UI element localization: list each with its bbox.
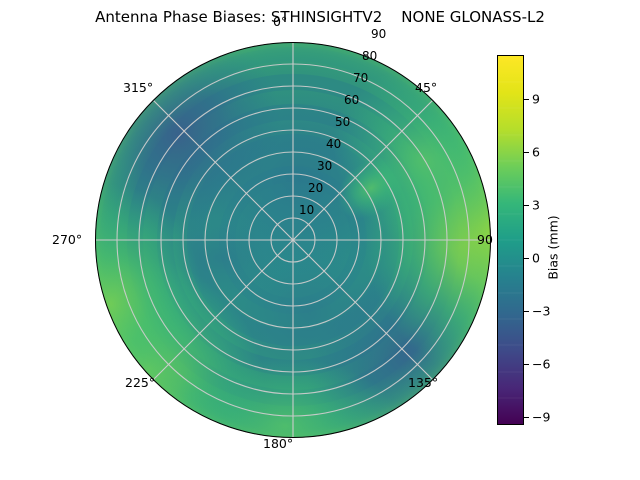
colorbar-tick-mark-3 [524,205,529,206]
radial-tick-10: 10 [299,203,314,217]
colorbar-tick-label-neg3: −3 [532,304,550,319]
radial-tick-70: 70 [353,71,368,85]
colorbar-gradient [497,55,524,425]
angular-tick-0: 0° [273,14,287,29]
colorbar-tick-label-9: 9 [532,92,540,107]
angular-tick-90: 90 [477,232,493,247]
colorbar-axis-label: Bias (mm) [546,215,561,279]
radial-tick-60: 60 [344,93,359,107]
radial-tick-40: 40 [326,137,341,151]
colorbar-tick-mark-neg9 [524,417,529,418]
colorbar-gradient-svg [498,56,523,424]
radial-tick-30: 30 [317,159,332,173]
colorbar-tick-mark-6 [524,152,529,153]
page-title: Antenna Phase Biases: STHINSIGHTV2 NONE … [0,8,640,26]
radial-tick-20: 20 [308,181,323,195]
colorbar-tick-label-neg6: −6 [532,357,550,372]
radial-tick-50: 50 [335,115,350,129]
colorbar-tick-label-neg9: −9 [532,410,550,425]
colorbar-tick-mark-neg6 [524,364,529,365]
colorbar-tick-mark-neg3 [524,311,529,312]
angular-tick-135: 135° [408,375,438,390]
radial-tick-90: 90 [371,27,386,41]
colorbar-tick-label-3: 3 [532,198,540,213]
angular-tick-315: 315° [123,80,153,95]
angular-tick-225: 225° [125,375,155,390]
polar-axes[interactable]: 0° 45° 90 135° 180° 225° 270° 315° 10 20… [95,42,491,438]
radial-tick-80: 80 [362,49,377,63]
colorbar-tick-mark-0 [524,258,529,259]
figure-canvas: Antenna Phase Biases: STHINSIGHTV2 NONE … [0,0,640,480]
colorbar[interactable]: 9 6 3 0 −3 −6 −9 Bias (mm) [497,55,617,427]
angular-tick-180: 180° [263,436,293,451]
angular-tick-45: 45° [415,80,437,95]
colorbar-tick-mark-9 [524,99,529,100]
colorbar-tick-label-6: 6 [532,145,540,160]
angular-tick-270: 270° [52,232,82,247]
colorbar-tick-label-0: 0 [532,251,540,266]
